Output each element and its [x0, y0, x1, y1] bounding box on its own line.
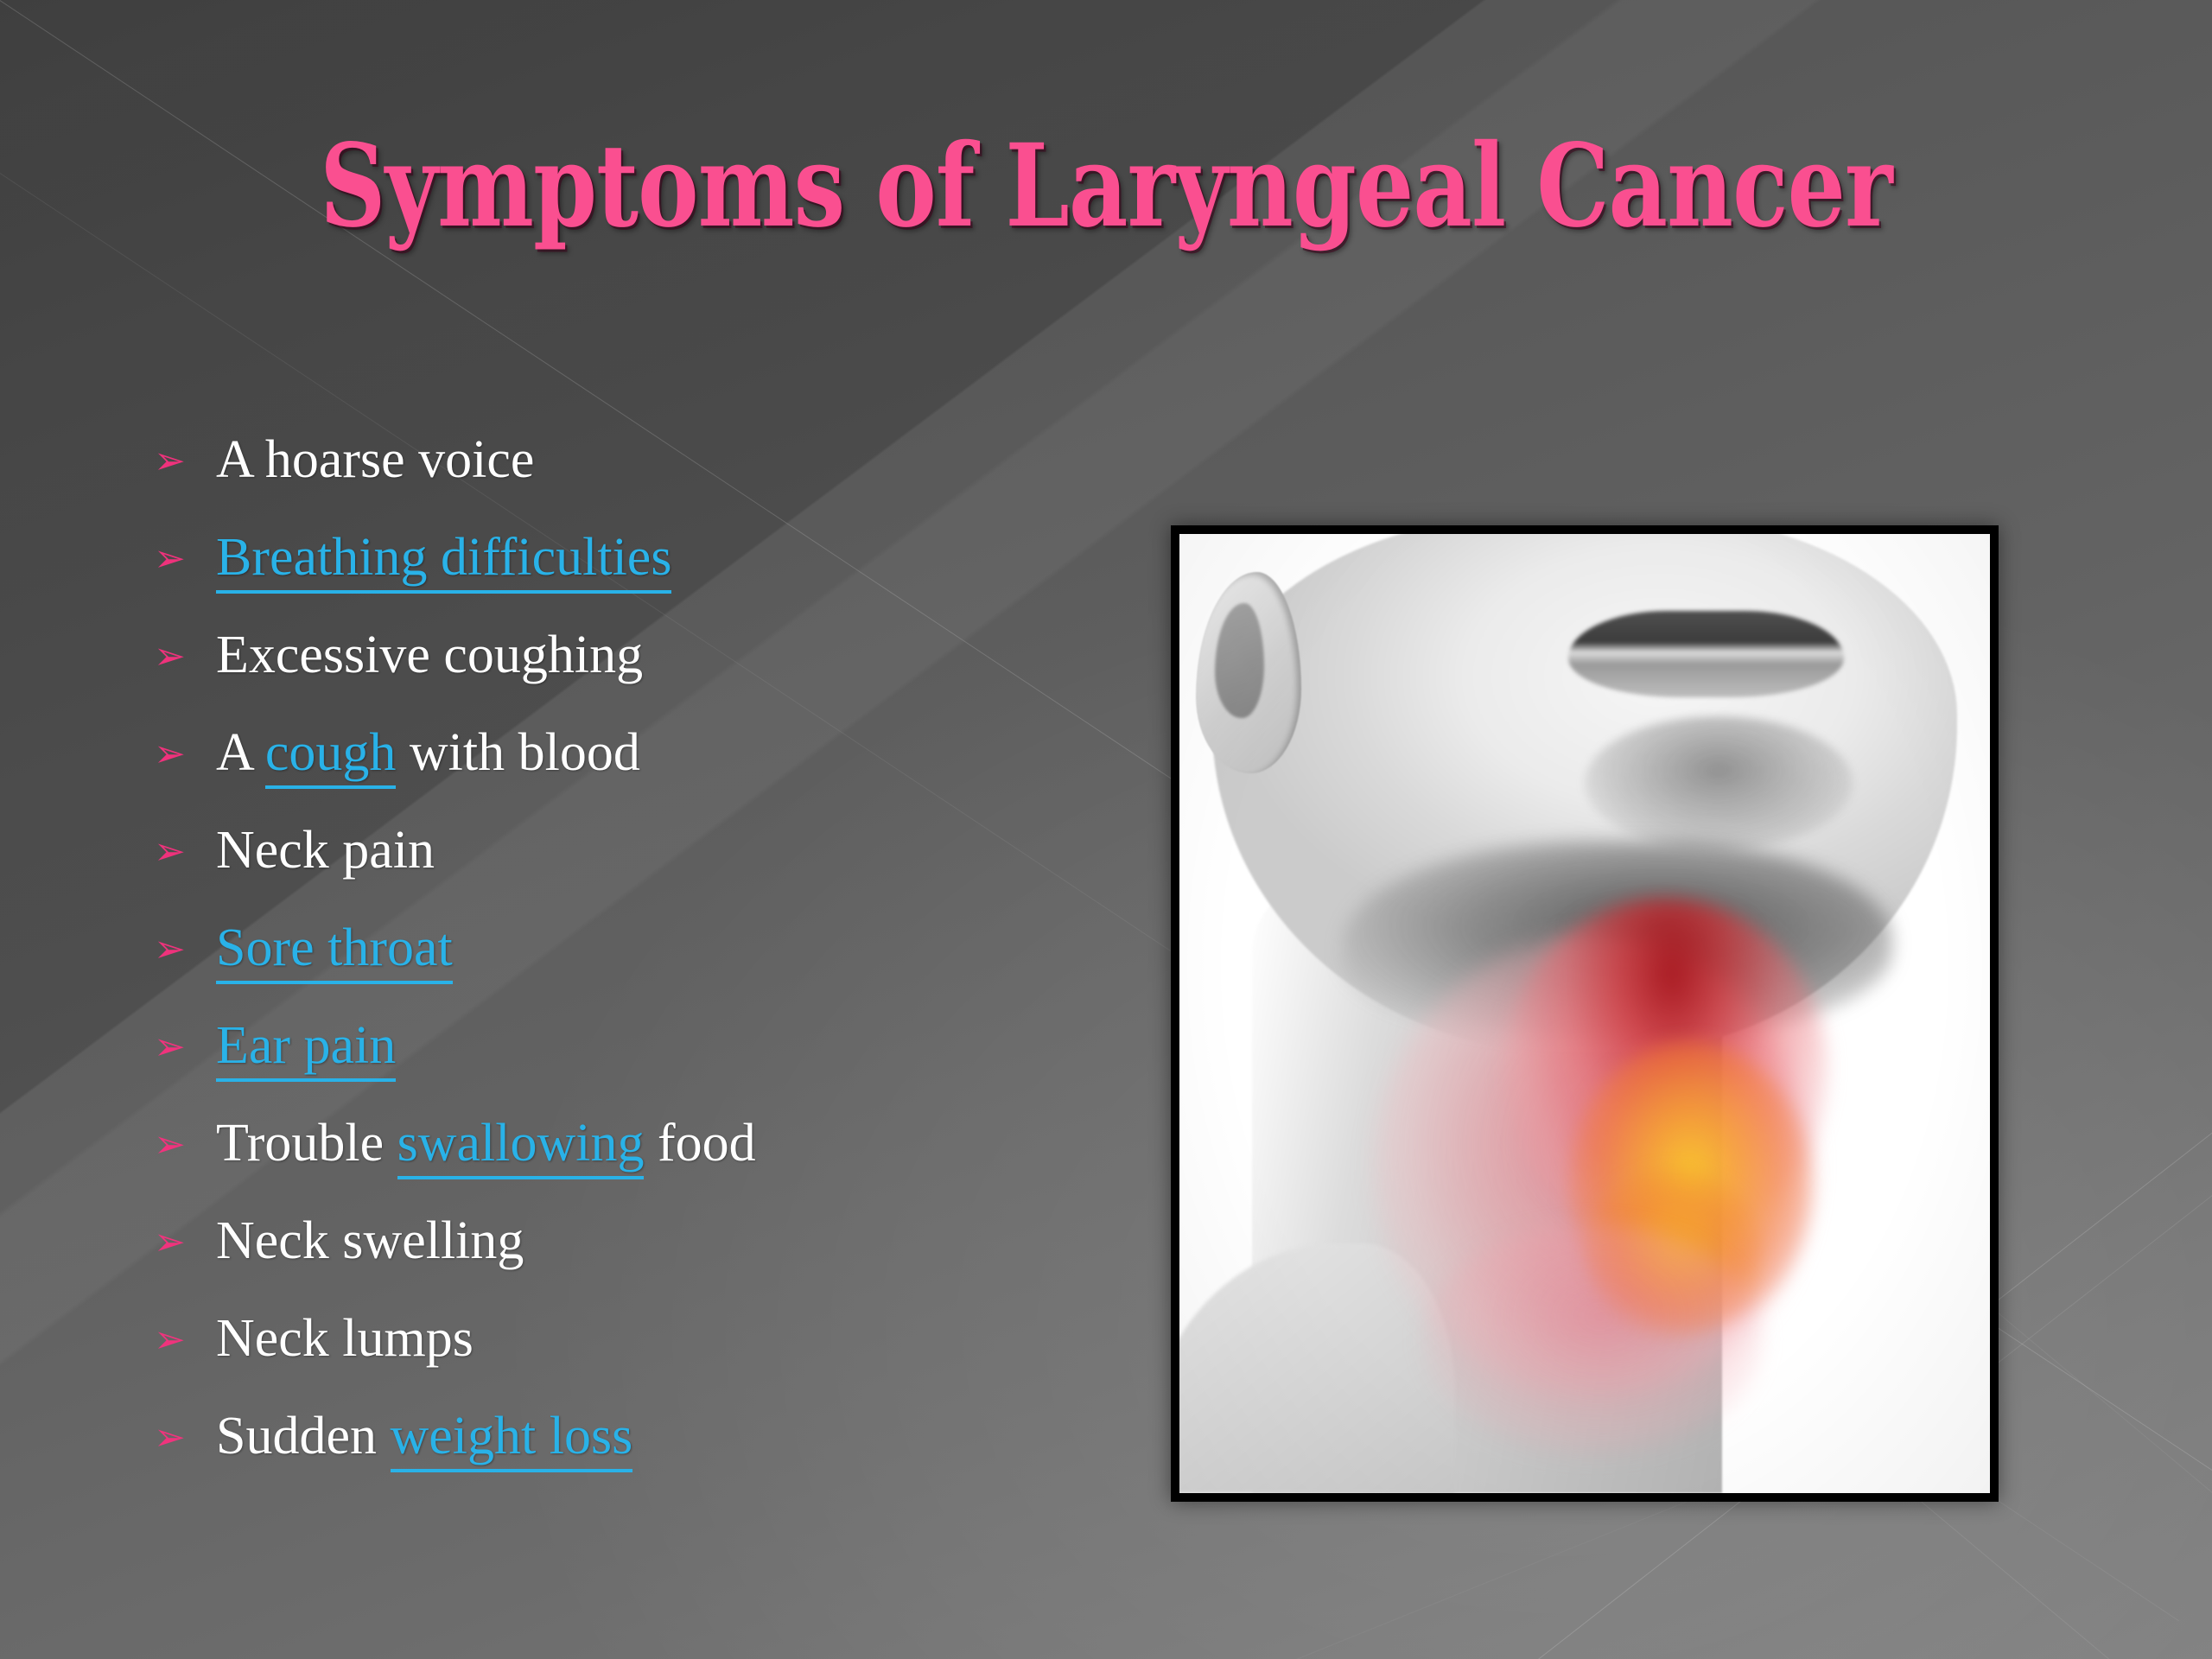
hyperlink-cough[interactable]: cough — [265, 723, 397, 789]
slide: Symptoms of Laryngeal Cancer ➢ A hoarse … — [0, 0, 2212, 1659]
heatmap-overlay-lower — [1422, 1224, 1763, 1454]
list-item[interactable]: ➢ Ear pain — [130, 1018, 1149, 1116]
list-item[interactable]: ➢ Sore throat — [130, 920, 1149, 1018]
list-item-label: Breathing difficulties — [216, 530, 1149, 586]
list-item-label: Neck swelling — [216, 1213, 1149, 1269]
chin-shadow — [1585, 716, 1853, 850]
list-item-label: Excessive coughing — [216, 627, 1149, 683]
list-item-text-prefix: Trouble — [216, 1114, 397, 1173]
list-item-text-prefix: Sudden — [216, 1407, 391, 1465]
arrow-bullet-icon: ➢ — [130, 931, 216, 969]
list-item[interactable]: ➢ Trouble swallowing food — [130, 1116, 1149, 1213]
neck-photo — [1179, 534, 1990, 1493]
list-item[interactable]: ➢ Neck pain — [130, 823, 1149, 920]
hyperlink-weight-loss[interactable]: weight loss — [391, 1407, 633, 1472]
list-item-text-prefix: A — [216, 723, 265, 782]
arrow-bullet-icon: ➢ — [130, 1321, 216, 1359]
arrow-bullet-icon: ➢ — [130, 540, 216, 578]
arrow-bullet-icon: ➢ — [130, 833, 216, 871]
hyperlink-ear-pain[interactable]: Ear pain — [216, 1016, 396, 1082]
arrow-bullet-icon: ➢ — [130, 1028, 216, 1066]
list-item-label: Sore throat — [216, 920, 1149, 976]
list-item-text-suffix: with blood — [396, 723, 639, 782]
arrow-bullet-icon: ➢ — [130, 1224, 216, 1262]
list-item-label: A cough with blood — [216, 725, 1149, 781]
arrow-bullet-icon: ➢ — [130, 638, 216, 676]
arrow-bullet-icon: ➢ — [130, 735, 216, 773]
arrow-bullet-icon: ➢ — [130, 442, 216, 480]
neck-photo-frame — [1171, 525, 1999, 1502]
list-item-text: Excessive coughing — [216, 626, 643, 684]
list-item-label: Neck lumps — [216, 1311, 1149, 1367]
hyperlink-breathing-difficulties[interactable]: Breathing difficulties — [216, 528, 671, 594]
list-item-label: Ear pain — [216, 1018, 1149, 1074]
list-item-label: Trouble swallowing food — [216, 1116, 1149, 1172]
arrow-bullet-icon: ➢ — [130, 1126, 216, 1164]
list-item[interactable]: ➢ A cough with blood — [130, 725, 1149, 823]
list-item-text: Neck swelling — [216, 1211, 524, 1270]
list-item-text: Neck lumps — [216, 1309, 474, 1368]
hyperlink-sore-throat[interactable]: Sore throat — [216, 918, 453, 984]
list-item-text-suffix: food — [644, 1114, 755, 1173]
symptoms-list: ➢ A hoarse voice ➢ Breathing difficultie… — [130, 432, 1149, 1506]
arrow-bullet-icon: ➢ — [130, 1419, 216, 1457]
hyperlink-swallowing[interactable]: swallowing — [397, 1114, 645, 1179]
list-item-label: Sudden weight loss — [216, 1408, 1149, 1465]
lips-region — [1568, 611, 1844, 697]
list-item-text: Neck pain — [216, 821, 435, 880]
list-item-label: Neck pain — [216, 823, 1149, 879]
list-item[interactable]: ➢ Breathing difficulties — [130, 530, 1149, 627]
list-item-label: A hoarse voice — [216, 432, 1149, 488]
list-item[interactable]: ➢ Sudden weight loss — [130, 1408, 1149, 1506]
list-item[interactable]: ➢ Neck lumps — [130, 1311, 1149, 1408]
list-item-text: A hoarse voice — [216, 430, 534, 489]
list-item[interactable]: ➢ Excessive coughing — [130, 627, 1149, 725]
list-item[interactable]: ➢ Neck swelling — [130, 1213, 1149, 1311]
list-item[interactable]: ➢ A hoarse voice — [130, 432, 1149, 530]
page-title: Symptoms of Laryngeal Cancer — [221, 130, 1991, 244]
